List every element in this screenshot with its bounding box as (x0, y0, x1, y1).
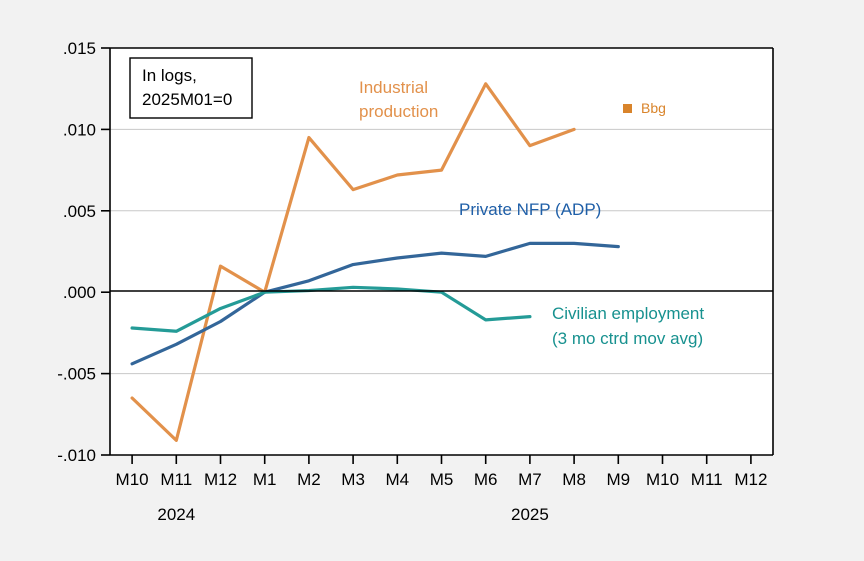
series-label-line-2: production (359, 102, 438, 121)
x-axis-tick-labels: M10M11M12M1M2M3M4M5M6M7M8M9M10M11M12 (116, 470, 768, 489)
y-tick-label: .010 (63, 120, 96, 139)
series-label-private-nfp: Private NFP (ADP) (459, 200, 601, 219)
y-tick-marks (101, 48, 110, 455)
series-label-line-2: (3 mo ctrd mov avg) (552, 329, 703, 348)
x-tick-label: M12 (734, 470, 767, 489)
x-tick-label: M7 (518, 470, 542, 489)
x-tick-label: M4 (385, 470, 409, 489)
x-tick-label: M10 (116, 470, 149, 489)
note-line-2: 2025M01=0 (142, 90, 232, 109)
year-group-label: 2024 (157, 505, 195, 524)
x-tick-label: M11 (691, 470, 723, 489)
x-tick-label: M9 (606, 470, 630, 489)
series-label-line-1: Civilian employment (552, 304, 704, 323)
y-tick-label: -.010 (57, 446, 96, 465)
x-tick-marks (132, 455, 751, 464)
series-label-line-1: Industrial (359, 78, 428, 97)
y-tick-label: .015 (63, 39, 96, 58)
legend-swatch-square-icon (623, 104, 632, 113)
x-axis-year-labels: 20242025 (157, 505, 548, 524)
y-tick-label: -.005 (57, 365, 96, 384)
x-tick-label: M10 (646, 470, 679, 489)
x-tick-label: M6 (474, 470, 498, 489)
x-tick-label: M8 (562, 470, 586, 489)
y-tick-label: .005 (63, 202, 96, 221)
y-tick-label: .000 (63, 283, 96, 302)
x-tick-label: M12 (204, 470, 237, 489)
x-tick-label: M3 (341, 470, 365, 489)
y-axis-tick-labels: .015.010.005.000-.005-.010 (57, 39, 96, 465)
legend-label: Bbg (641, 100, 666, 116)
x-tick-label: M2 (297, 470, 321, 489)
x-tick-label: M5 (430, 470, 454, 489)
line-chart: .015.010.005.000-.005-.010 M10M11M12M1M2… (0, 0, 864, 561)
series-label-line-1: Private NFP (ADP) (459, 200, 601, 219)
x-tick-label: M1 (253, 470, 277, 489)
note-line-1: In logs, (142, 66, 197, 85)
year-group-label: 2025 (511, 505, 549, 524)
x-tick-label: M11 (160, 470, 192, 489)
chart-container: .015.010.005.000-.005-.010 M10M11M12M1M2… (0, 0, 864, 561)
note-annotation: In logs, 2025M01=0 (130, 58, 252, 118)
